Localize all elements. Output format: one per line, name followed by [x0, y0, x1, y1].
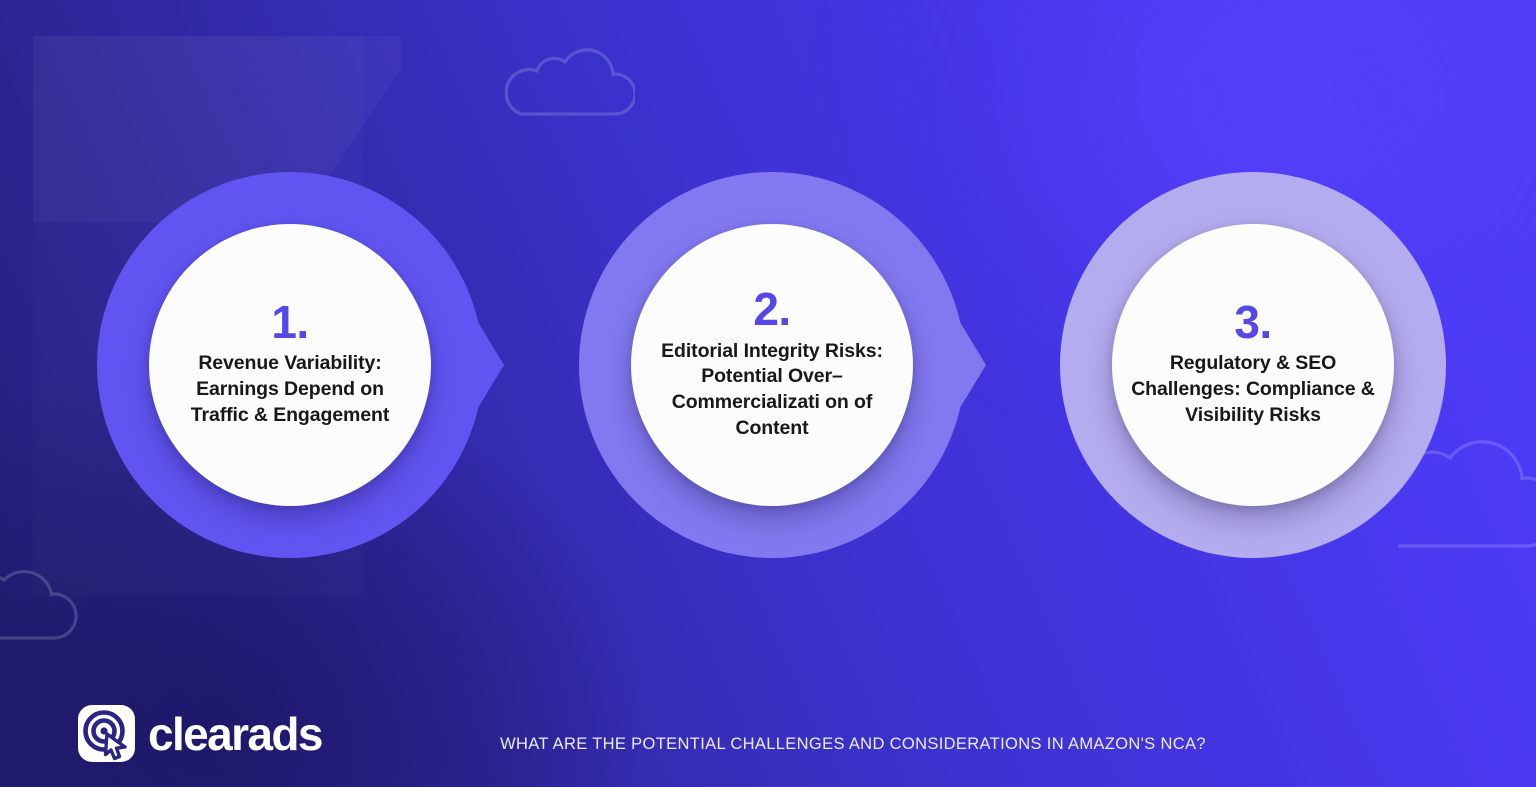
- step-number-3: 3.: [1234, 301, 1271, 345]
- process-step-2[interactable]: 2. Editorial Integrity Risks: Potential …: [579, 172, 965, 558]
- footer-caption: WHAT ARE THE POTENTIAL CHALLENGES AND CO…: [0, 735, 1536, 754]
- step-number-2: 2.: [753, 288, 790, 332]
- infographic-canvas: 1. Revenue Variability: Earnings Depend …: [0, 0, 1536, 787]
- step-number-1: 1.: [271, 301, 308, 345]
- step-caption-2: Editorial Integrity Risks: Potential Ove…: [647, 339, 897, 443]
- step-disc-1: 1. Revenue Variability: Earnings Depend …: [149, 224, 431, 506]
- step-disc-2: 2. Editorial Integrity Risks: Potential …: [631, 224, 913, 506]
- step-caption-3: Regulatory & SEO Challenges: Compliance …: [1128, 351, 1378, 429]
- process-step-3[interactable]: 3. Regulatory & SEO Challenges: Complian…: [1060, 172, 1446, 558]
- process-steps: 1. Revenue Variability: Earnings Depend …: [0, 0, 1536, 787]
- step-caption-1: Revenue Variability: Earnings Depend on …: [165, 351, 415, 429]
- step-disc-3: 3. Regulatory & SEO Challenges: Complian…: [1112, 224, 1394, 506]
- process-step-1[interactable]: 1. Revenue Variability: Earnings Depend …: [97, 172, 483, 558]
